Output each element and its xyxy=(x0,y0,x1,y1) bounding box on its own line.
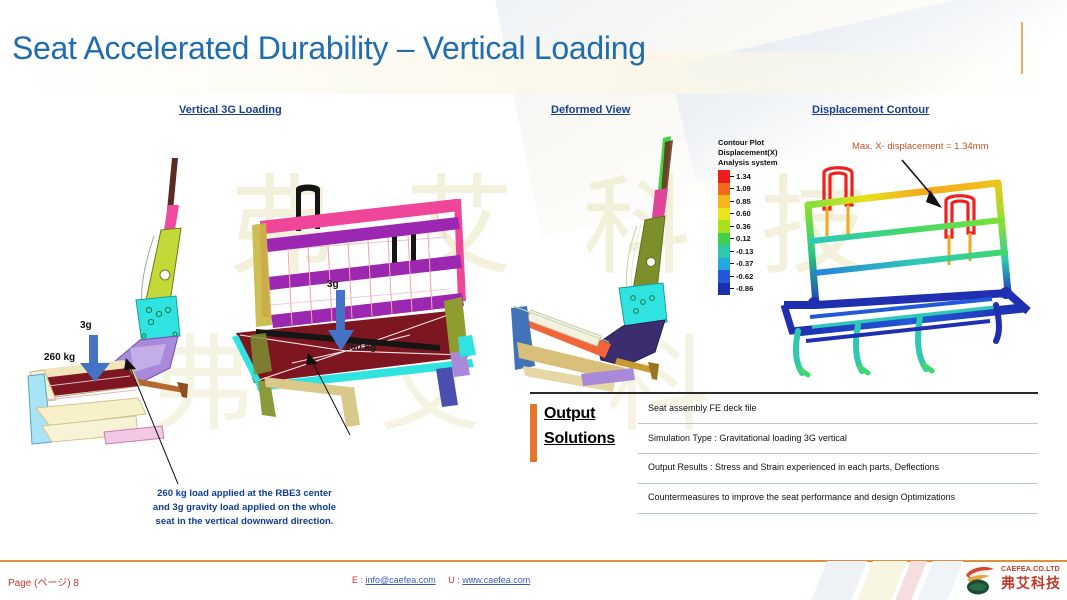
output-title-line-2: Solutions xyxy=(544,427,638,452)
output-title: Output Solutions xyxy=(544,402,638,452)
max-displacement-arrow xyxy=(900,158,950,218)
legend-value: 0.60 xyxy=(736,209,751,218)
legend-swatch xyxy=(718,208,730,221)
section-heading-displacement-contour: Displacement Contour xyxy=(812,104,929,116)
cad-deformed-view xyxy=(505,130,705,395)
legend-value: 0.85 xyxy=(736,197,751,206)
slide-canvas: Seat Accelerated Durability – Vertical L… xyxy=(0,0,1067,600)
legend-swatch xyxy=(718,258,730,271)
legend-swatch xyxy=(718,170,730,183)
load-description-note: 260 kg load applied at the RBE3 center a… xyxy=(112,487,377,528)
output-row: Simulation Type : Gravitational loading … xyxy=(638,424,1038,454)
footer-email-link[interactable]: info@caefea.com xyxy=(366,575,436,585)
logo-text: CAEFEA.CO.LTD 弗艾科技 xyxy=(1001,566,1061,593)
legend-tick xyxy=(730,188,734,189)
legend-tick xyxy=(730,263,734,264)
max-displacement-label: Max. X- displacement = 1.34mm xyxy=(852,141,988,152)
legend-tick xyxy=(730,201,734,202)
output-accent-bar xyxy=(530,404,537,462)
output-title-line-1: Output xyxy=(544,402,638,427)
legend-tick xyxy=(730,288,734,289)
load-arrow-left xyxy=(78,335,112,388)
output-rows: Seat assembly FE deck fileSimulation Typ… xyxy=(638,394,1038,514)
legend-tick xyxy=(730,226,734,227)
load-label-3g-center: 3g xyxy=(327,279,339,290)
legend-swatch xyxy=(718,283,730,296)
accent-tick-decoration xyxy=(1021,22,1023,74)
legend-title: Contour Plot Displacement(X) Analysis sy… xyxy=(718,138,778,168)
legend-swatch xyxy=(718,220,730,233)
page-title: Seat Accelerated Durability – Vertical L… xyxy=(12,30,646,67)
footer-page-number: Page (ページ) 8 xyxy=(8,574,79,589)
legend-swatch xyxy=(718,245,730,258)
logo-company-en: CAEFEA.CO.LTD xyxy=(1001,566,1061,573)
legend-tick xyxy=(730,251,734,252)
legend-value: -0.86 xyxy=(736,284,753,293)
output-title-column: Output Solutions xyxy=(530,394,638,514)
legend-swatch xyxy=(718,195,730,208)
legend-title-line-2: Displacement(X) xyxy=(718,148,778,158)
legend-swatch xyxy=(718,233,730,246)
load-label-3g-left: 3g xyxy=(80,320,92,331)
legend-value: -0.13 xyxy=(736,247,753,256)
legend-value: -0.37 xyxy=(736,259,753,268)
note-line-1: 260 kg load applied at the RBE3 center xyxy=(157,488,332,499)
legend-value: -0.62 xyxy=(736,272,753,281)
output-row: Output Results : Stress and Strain exper… xyxy=(638,454,1038,484)
logo-mark-icon xyxy=(963,562,997,596)
load-label-260kg-left: 260 kg xyxy=(44,352,75,363)
footer-email-label: E : xyxy=(352,575,363,585)
note-line-3: seat in the vertical downward direction. xyxy=(156,516,334,527)
output-row: Seat assembly FE deck file xyxy=(638,394,1038,424)
legend-value: 0.12 xyxy=(736,234,751,243)
legend-tick xyxy=(730,276,734,277)
legend-title-line-1: Contour Plot xyxy=(718,138,778,148)
logo-company-cn: 弗艾科技 xyxy=(1001,573,1061,593)
legend-value: 1.09 xyxy=(736,184,751,193)
legend-tick xyxy=(730,238,734,239)
company-logo: CAEFEA.CO.LTD 弗艾科技 xyxy=(963,562,1061,596)
footer-url-link[interactable]: www.caefea.com xyxy=(462,575,530,585)
footer-contact: E : info@caefea.com U : www.caefea.com xyxy=(352,575,530,585)
load-label-260kg-center: 260 kg xyxy=(345,342,376,353)
legend-swatch xyxy=(718,183,730,196)
section-heading-deformed-view: Deformed View xyxy=(551,104,630,116)
output-solutions-block: Output Solutions Seat assembly FE deck f… xyxy=(530,392,1038,514)
legend-tick xyxy=(730,176,734,177)
legend-value: 1.34 xyxy=(736,172,751,181)
legend-value: 0.36 xyxy=(736,222,751,231)
footer-url-label: U : xyxy=(448,575,460,585)
legend-swatch xyxy=(718,270,730,283)
note-line-2: and 3g gravity load applied on the whole xyxy=(153,502,336,513)
legend-tick xyxy=(730,213,734,214)
section-heading-vertical-loading: Vertical 3G Loading xyxy=(179,104,282,116)
output-row: Countermeasures to improve the seat perf… xyxy=(638,484,1038,514)
